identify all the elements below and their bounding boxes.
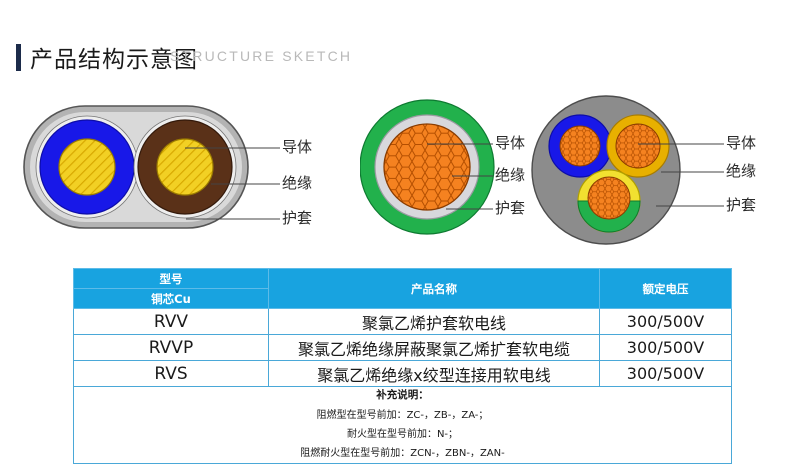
header-product-name: 产品名称 <box>269 269 600 309</box>
diagram-flat-twin-cable: 导体 绝缘 护套 <box>18 88 318 253</box>
cell-model: RVVP <box>74 335 269 361</box>
cell-voltage: 300/500V <box>600 335 732 361</box>
table-row: RVS 聚氯乙烯绝缘x绞型连接用软电线 300/500V <box>74 361 732 387</box>
cell-voltage: 300/500V <box>600 309 732 335</box>
label-insulation: 绝缘 <box>726 160 756 181</box>
note-line-2: 耐火型在型号前加：N-； <box>74 425 731 440</box>
label-sheath: 护套 <box>726 194 756 215</box>
cell-product-name: 聚氯乙烯绝缘x绞型连接用软电线 <box>269 361 600 387</box>
table-row: RVVP 聚氯乙烯绝缘屏蔽聚氯乙烯扩套软电缆 300/500V <box>74 335 732 361</box>
conductor-stranded <box>384 124 470 210</box>
label-insulation: 绝缘 <box>495 164 525 185</box>
page-subtitle: STRUCTURE SKETCH <box>170 48 352 64</box>
diagram-three-core-cable: 导体 绝缘 护套 <box>528 88 778 258</box>
header-model-top: 型号 <box>74 269 269 289</box>
title-accent-bar <box>16 44 21 71</box>
cell-model: RVV <box>74 309 269 335</box>
core-conductor-right <box>157 139 213 195</box>
label-conductor: 导体 <box>282 136 312 157</box>
table-note: 补充说明： 阻燃型在型号前加：ZC-，ZB-，ZA-； 耐火型在型号前加：N-；… <box>74 387 732 464</box>
core-conductor-left <box>59 139 115 195</box>
header-model-bottom: 铜芯Cu <box>74 289 269 309</box>
cell-model: RVS <box>74 361 269 387</box>
core-conductor-blue <box>560 126 600 166</box>
core-conductor-amber <box>616 124 660 168</box>
note-line-1: 阻燃型在型号前加：ZC-，ZB-，ZA-； <box>74 406 731 421</box>
table-row: RVV 聚氯乙烯护套软电线 300/500V <box>74 309 732 335</box>
label-sheath: 护套 <box>495 197 525 218</box>
header-rated-voltage: 额定电压 <box>600 269 732 309</box>
cell-product-name: 聚氯乙烯护套软电线 <box>269 309 600 335</box>
table-header-row-top: 型号 产品名称 额定电压 <box>74 269 732 289</box>
structure-diagrams: 导体 绝缘 护套 导体 绝缘 护套 <box>0 88 790 253</box>
spec-table: 型号 产品名称 额定电压 铜芯Cu RVV 聚氯乙烯护套软电线 300/500V… <box>73 268 732 464</box>
table-note-row: 补充说明： 阻燃型在型号前加：ZC-，ZB-，ZA-； 耐火型在型号前加：N-；… <box>74 387 732 464</box>
cell-product-name: 聚氯乙烯绝缘屏蔽聚氯乙烯扩套软电缆 <box>269 335 600 361</box>
diagram-single-core-cable: 导体 绝缘 护套 <box>360 88 535 253</box>
spec-table-wrapper: 型号 产品名称 额定电压 铜芯Cu RVV 聚氯乙烯护套软电线 300/500V… <box>73 268 728 464</box>
cell-voltage: 300/500V <box>600 361 732 387</box>
core-conductor-yellow-green <box>588 177 630 219</box>
label-insulation: 绝缘 <box>282 172 312 193</box>
note-title: 补充说明： <box>74 387 731 402</box>
page-header: 产品结构示意图 STRUCTURE SKETCH <box>0 36 790 76</box>
label-conductor: 导体 <box>726 132 756 153</box>
label-conductor: 导体 <box>495 132 525 153</box>
note-line-3: 阻燃耐火型在型号前加：ZCN-，ZBN-，ZAN- <box>74 444 731 459</box>
label-sheath: 护套 <box>282 207 312 228</box>
